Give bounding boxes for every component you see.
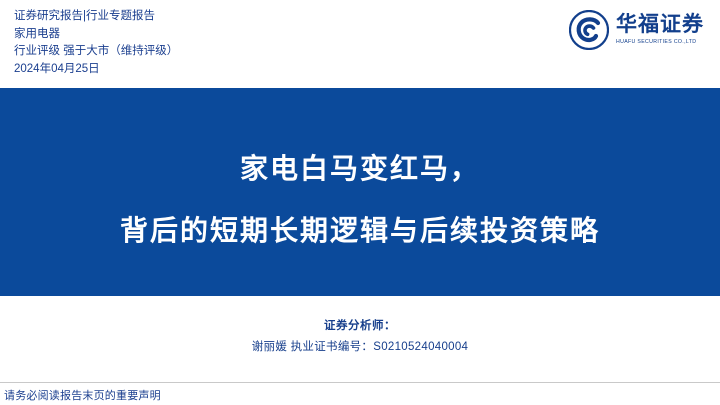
- logo-wordmark: 华福证券 HUAFU SECURITIES CO.,LTD: [616, 14, 704, 46]
- huafu-spiral-logo-icon: [569, 10, 609, 50]
- logo-company-cn: 华福证券: [616, 14, 704, 36]
- header-report-type: 证券研究报告|行业专题报告: [14, 8, 178, 26]
- analyst-label: 证券分析师：: [0, 316, 720, 337]
- company-logo: 华福证券 HUAFU SECURITIES CO.,LTD: [569, 10, 704, 50]
- analyst-block: 证券分析师： 谢丽媛 执业证书编号：S0210524040004: [0, 316, 720, 358]
- header-industry: 家用电器: [14, 26, 178, 44]
- footer-disclaimer: 请务必阅读报告末页的重要声明: [4, 387, 161, 403]
- footer-divider: [0, 382, 720, 383]
- page-header: 证券研究报告|行业专题报告 家用电器 行业评级 强于大市（维持评级） 2024年…: [0, 0, 720, 88]
- analyst-name-and-license: 谢丽媛 执业证书编号：S0210524040004: [0, 337, 720, 358]
- header-date: 2024年04月25日: [14, 61, 178, 79]
- report-title-line-1: 家电白马变红马，: [0, 138, 720, 200]
- report-cover-page: 证券研究报告|行业专题报告 家用电器 行业评级 强于大市（维持评级） 2024年…: [0, 0, 720, 405]
- report-title-line-2: 背后的短期长期逻辑与后续投资策略: [0, 200, 720, 262]
- header-meta-block: 证券研究报告|行业专题报告 家用电器 行业评级 强于大市（维持评级） 2024年…: [14, 8, 178, 78]
- header-rating: 行业评级 强于大市（维持评级）: [14, 43, 178, 61]
- logo-company-en: HUAFU SECURITIES CO.,LTD: [616, 38, 704, 46]
- report-title: 家电白马变红马， 背后的短期长期逻辑与后续投资策略: [0, 138, 720, 262]
